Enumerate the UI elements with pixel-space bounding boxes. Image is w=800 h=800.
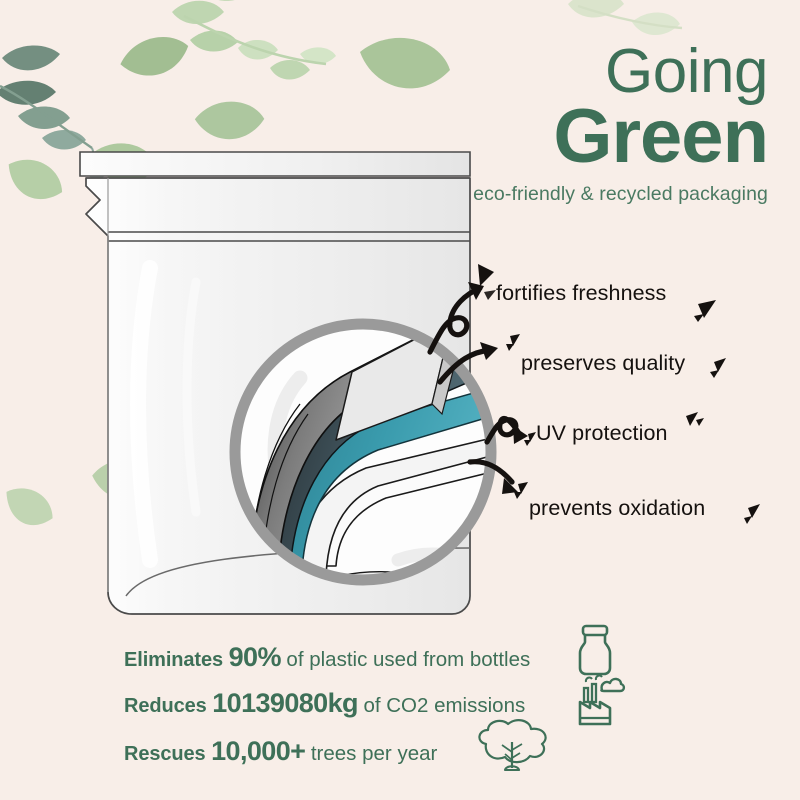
- stat-row-trees: Rescues 10,000+ trees per year: [124, 736, 437, 767]
- heading-block: Going Green eco-friendly & recycled pack…: [348, 42, 768, 206]
- bottle-icon: [572, 622, 618, 678]
- stat-lead-trees: Rescues: [124, 743, 206, 765]
- going-green-infographic: Going Green eco-friendly & recycled pack…: [0, 0, 800, 800]
- stat-lead-plastic: Eliminates: [124, 649, 223, 671]
- stat-tail-trees: trees per year: [311, 742, 437, 765]
- stat-tail-plastic: of plastic used from bottles: [286, 648, 530, 671]
- tree-icon: [472, 718, 558, 776]
- feature-label-prevents-oxidation: prevents oxidation: [529, 496, 705, 521]
- subtitle: eco-friendly & recycled packaging: [348, 183, 768, 206]
- title-line-2: Green: [348, 99, 768, 175]
- factory-icon: [572, 672, 628, 728]
- arrow-prevents-oxidation: [470, 462, 512, 482]
- arrow-preserves-quality: [440, 350, 490, 382]
- stat-lead-co2: Reduces: [124, 695, 207, 717]
- stat-row-plastic: Eliminates 90% of plastic used from bott…: [124, 642, 530, 673]
- stat-row-co2: Reduces 10139080kg of CO2 emissions: [124, 688, 525, 719]
- arrow-fortifies-freshness: [430, 288, 480, 352]
- stat-tail-co2: of CO2 emissions: [363, 694, 525, 717]
- stat-value-co2: 10139080kg: [212, 688, 358, 718]
- feature-label-preserves-quality: preserves quality: [521, 351, 685, 376]
- stat-value-trees: 10,000+: [211, 736, 305, 766]
- feature-label-uv-protection: UV protection: [536, 421, 668, 446]
- stat-value-plastic: 90%: [229, 642, 281, 672]
- feature-label-fortifies-freshness: fortifies freshness: [496, 281, 666, 306]
